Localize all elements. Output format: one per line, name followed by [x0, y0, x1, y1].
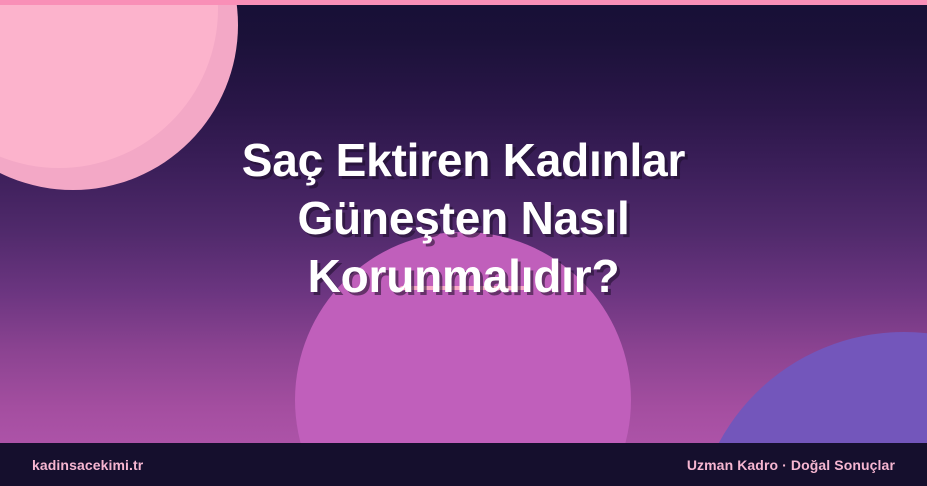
top-accent-strip — [0, 0, 927, 5]
headline-line-2: Güneşten Nasıl — [120, 189, 807, 247]
promo-banner: Saç Ektiren Kadınlar Güneşten Nasıl Koru… — [0, 0, 927, 486]
banner-footer: kadinsacekimi.tr Uzman Kadro · Doğal Son… — [0, 443, 927, 486]
headline-line-3: Korunmalıdır? — [120, 247, 807, 305]
site-name: kadinsacekimi.tr — [32, 457, 143, 473]
banner-headline: Saç Ektiren Kadınlar Güneşten Nasıl Koru… — [0, 131, 927, 305]
headline-line-1: Saç Ektiren Kadınlar — [120, 131, 807, 189]
footer-tagline: Uzman Kadro · Doğal Sonuçlar — [687, 457, 895, 473]
